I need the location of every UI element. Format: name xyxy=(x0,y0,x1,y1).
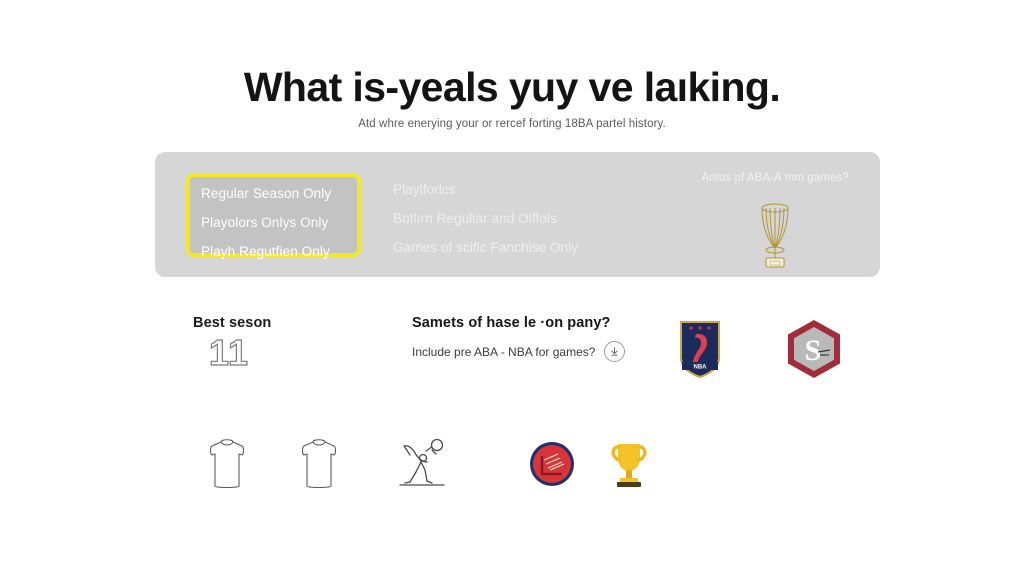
download-arrow-icon[interactable] xyxy=(604,341,625,362)
scope-option-playoffs[interactable]: Playlforlcs xyxy=(393,182,456,197)
icon-strip xyxy=(195,432,665,496)
include-aba-label: Include pre ABA - NBA for games? xyxy=(412,345,595,359)
hex-s-badge: S xyxy=(782,318,846,380)
wire-trophy-icon xyxy=(751,194,799,274)
nba-shield-badge: NBA xyxy=(676,318,724,380)
include-aba-row[interactable]: Include pre ABA - NBA for games? xyxy=(412,341,625,362)
gold-trophy-icon xyxy=(597,432,661,496)
svg-text:NBA: NBA xyxy=(694,365,708,371)
filter-option-playoffs[interactable]: Playolors Onlys Only xyxy=(201,215,328,230)
samples-heading: Samets of hase le ·on pany? xyxy=(412,315,611,331)
page-subtitle: Atd whre enerying your or rercef forting… xyxy=(0,118,1024,130)
hex-badge-letter: S xyxy=(805,334,822,367)
aba-question-block: Antus pf ABA-A mm games? xyxy=(675,172,875,274)
options-panel: Regular Season Only Playolors Onlys Only… xyxy=(155,152,880,277)
player-shooting-icon xyxy=(390,432,454,496)
aba-question-label: Antus pf ABA-A mm games? xyxy=(675,172,875,184)
page-title: What is-yeals yuy ve laıking. xyxy=(0,64,1024,111)
scope-option-both-regular-and-playoffs[interactable]: Botlırn Regullar and Olffols xyxy=(393,211,557,226)
filter-option-regular-season[interactable]: Regular Season Only xyxy=(201,186,331,201)
scope-option-specific-franchise[interactable]: Games of scific Fanchise Only xyxy=(393,240,578,255)
selected-filter-group[interactable]: Regular Season Only Playolors Onlys Only… xyxy=(186,173,361,257)
best-season-value: 11 xyxy=(209,335,249,371)
filter-option-play-regular[interactable]: Playh Regutfien Only xyxy=(201,244,330,259)
team-circle-logo-icon xyxy=(520,432,584,496)
jersey-outline-icon-2 xyxy=(287,432,351,496)
jersey-outline-icon xyxy=(195,432,259,496)
best-season-label: Best seson xyxy=(193,315,271,331)
